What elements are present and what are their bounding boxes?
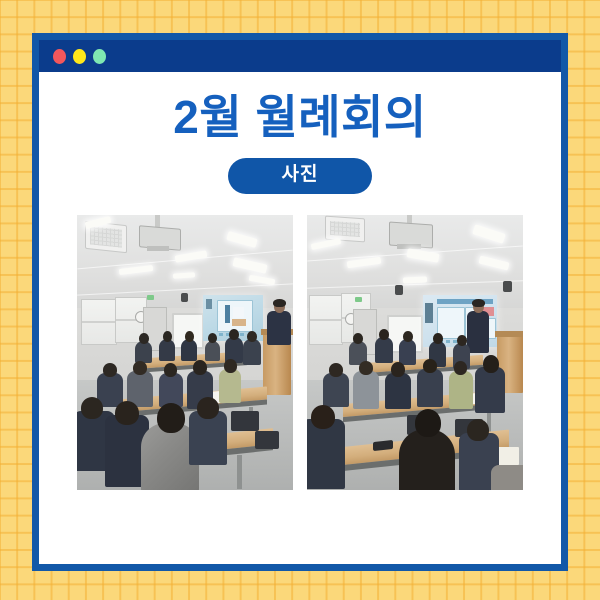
exit-sign (355, 297, 362, 302)
window-pane (81, 299, 117, 345)
attendee-head (415, 409, 441, 437)
attendee-body (491, 465, 523, 490)
attendee-head (483, 355, 499, 373)
desk-leg (237, 455, 242, 489)
status-badge[interactable]: 사진 (228, 158, 373, 194)
attendee-head (133, 361, 147, 375)
attendee-head (247, 331, 257, 342)
attendee-body (375, 337, 393, 363)
air-conditioner-unit (325, 215, 365, 242)
attendee-body (159, 339, 175, 361)
attendee-head (115, 401, 139, 425)
attendee-body (181, 339, 197, 361)
slide-dot (219, 333, 223, 336)
photo-classroom-left[interactable] (77, 215, 293, 490)
wall-speaker (503, 281, 512, 292)
attendee-head (197, 397, 219, 419)
attendee-head (391, 362, 405, 377)
attendee-head (403, 331, 413, 342)
attendee-head (164, 363, 177, 377)
attendee-head (353, 333, 363, 344)
window-title-bar (39, 40, 561, 72)
attendee-head (208, 333, 217, 343)
exit-sign (147, 295, 154, 300)
wall-speaker (181, 293, 188, 302)
attendee-head (433, 333, 443, 344)
photo-gallery (77, 215, 523, 490)
attendee-head (457, 335, 467, 346)
attendee-head (311, 405, 335, 429)
close-dot-icon[interactable] (53, 49, 66, 64)
attendee-body (243, 339, 261, 365)
presenter-hair (472, 299, 485, 307)
presenter-body (467, 311, 489, 353)
attendee-head (467, 419, 489, 441)
attendee-body (399, 339, 416, 365)
attendee-body (205, 341, 220, 361)
attendee-head (163, 331, 172, 342)
attendee-body (135, 341, 152, 363)
attendee-body (449, 371, 473, 409)
attendee-head (454, 361, 467, 375)
attendee-head (157, 403, 185, 433)
presenter-hair (273, 299, 286, 307)
chair (231, 411, 259, 431)
attendee-head (379, 329, 389, 340)
attendee-body (399, 429, 455, 490)
slide-logo (206, 299, 212, 309)
attendee-head (193, 360, 207, 375)
ceiling-light (403, 276, 427, 283)
classroom-scene-right (307, 215, 523, 490)
window-pane (309, 295, 343, 345)
attendee-head (359, 361, 373, 375)
chair (255, 431, 279, 449)
attendee-body (219, 369, 241, 403)
slide-logo (425, 303, 433, 323)
attendee-body (323, 373, 349, 407)
slide-dot (446, 340, 450, 343)
attendee-head (423, 359, 437, 373)
smartphone (373, 440, 393, 451)
slide-figure (225, 305, 230, 323)
slide-figure (232, 319, 246, 326)
attendee-head (139, 333, 149, 344)
attendee-body (189, 411, 227, 465)
window-content: 2월 월례회의 사진 (39, 72, 561, 564)
attendee-body (417, 369, 443, 407)
slide-dot (240, 333, 244, 336)
page-title: 2월 월례회의 (173, 94, 426, 140)
minimize-dot-icon[interactable] (73, 49, 86, 64)
poster-page: 2월 월례회의 사진 (0, 0, 600, 600)
slide-figure (233, 307, 244, 318)
podium-top (495, 331, 523, 337)
maximize-dot-icon[interactable] (93, 49, 106, 64)
attendee-head (81, 397, 103, 419)
browser-window-frame: 2월 월례회의 사진 (32, 33, 568, 571)
attendee-head (329, 363, 343, 377)
attendee-body (353, 371, 379, 409)
attendee-head (229, 329, 239, 340)
wall-speaker (395, 285, 403, 295)
photo-classroom-right[interactable] (307, 215, 523, 490)
attendee-head (185, 331, 194, 342)
projector-base (147, 246, 169, 251)
classroom-scene-left (77, 215, 293, 490)
attendee-body (159, 373, 183, 407)
attendee-head (224, 359, 237, 373)
attendee-body (385, 373, 411, 409)
attendee-body (475, 367, 505, 413)
attendee-body (307, 419, 345, 489)
attendee-head (103, 363, 117, 377)
presenter-body (267, 311, 291, 345)
browser-window-inner: 2월 월례회의 사진 (39, 40, 561, 564)
